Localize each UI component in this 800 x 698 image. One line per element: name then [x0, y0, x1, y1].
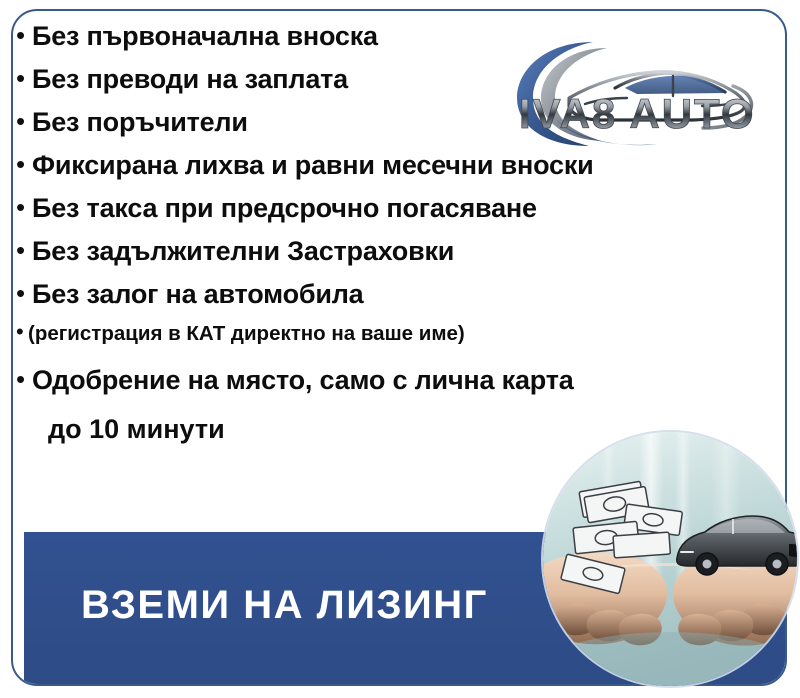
bullet-dot-icon: • — [16, 151, 32, 177]
list-item-label: Фиксирана лихва и равни месечни вноски — [32, 150, 786, 181]
hands-money-car-photo — [543, 432, 797, 686]
list-item: • Фиксирана лихва и равни месечни вноски — [16, 150, 786, 193]
bullet-dot-icon: • — [16, 65, 32, 91]
list-item: • Одобрение на място, само с лична карта — [16, 365, 786, 409]
list-item: • Без такса при предсрочно погасяване — [16, 193, 786, 236]
bullet-dot-icon: • — [16, 108, 32, 134]
list-item-note: • (регистрация в КАТ директно на ваше им… — [16, 322, 786, 365]
banner-title: ВЗЕМИ НА ЛИЗИНГ — [81, 583, 488, 628]
bullet-dot-icon: • — [16, 366, 32, 392]
list-item-label: Без такса при предсрочно погасяване — [32, 193, 786, 224]
list-item-label: Без залог на автомобила — [32, 279, 786, 310]
bullet-dot-icon: • — [16, 22, 32, 48]
ivas-auto-logo: IVA8 AUTO — [497, 26, 763, 148]
list-item-label: Одобрение на място, само с лична карта — [32, 365, 786, 396]
bullet-dot-icon: • — [16, 280, 32, 306]
list-item-note-label: (регистрация в КАТ директно на ваше име) — [28, 322, 786, 346]
bullet-dot-icon: • — [16, 194, 32, 220]
bullet-dot-icon: • — [16, 321, 28, 343]
list-item: • Без залог на автомобила — [16, 279, 786, 322]
list-item-label: Без задължителни Застраховки — [32, 236, 786, 267]
bullet-dot-icon: • — [16, 237, 32, 263]
logo-wordmark: IVA8 AUTO — [519, 90, 756, 137]
list-item: • Без задължителни Застраховки — [16, 236, 786, 279]
